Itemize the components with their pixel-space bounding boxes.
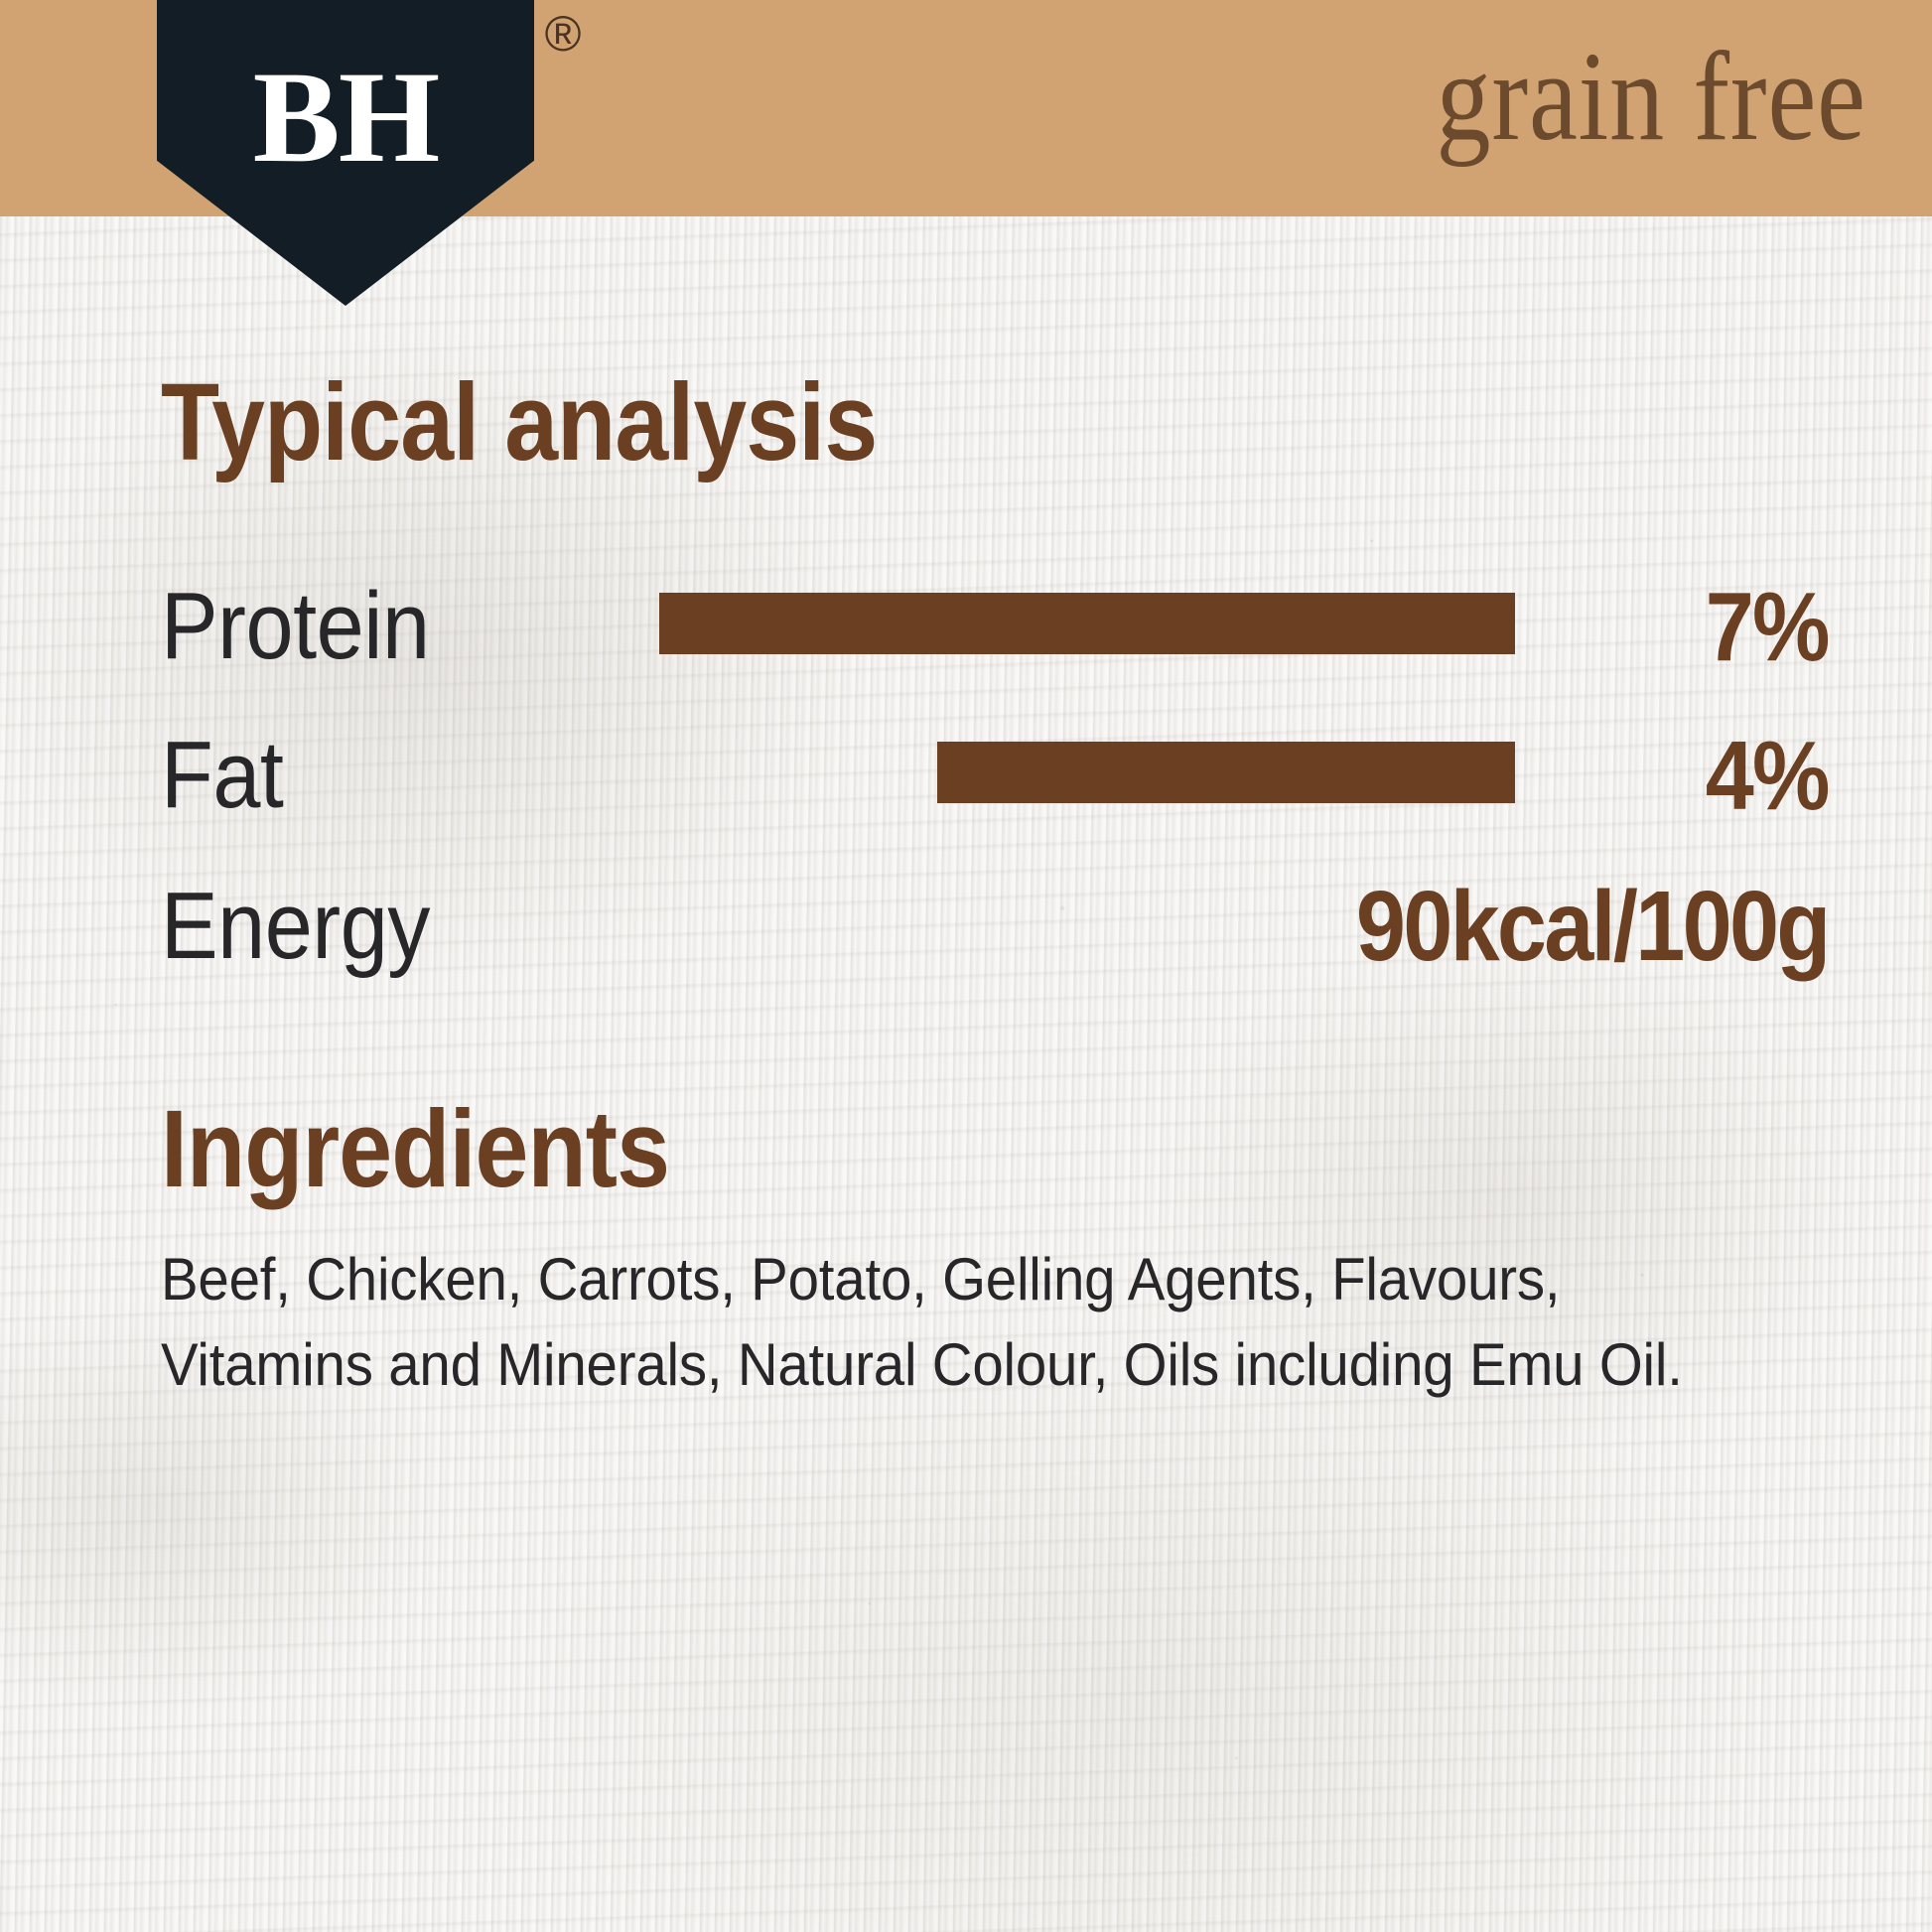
nutrition-value-energy: 90kcal/100g [1356,872,1829,981]
nutrition-value-fat: 4% [1706,721,1829,830]
nutrition-row-energy: Energy 90kcal/100g [161,872,1829,981]
nutrition-row-protein: Protein 7% [161,572,1829,681]
brand-initials: BH [253,52,439,183]
grain-free-tagline: grain free [1437,22,1866,171]
typical-analysis-heading: Typical analysis [161,367,877,479]
nutrition-label-energy: Energy [161,872,430,981]
ingredients-line-2: Vitamins and Minerals, Natural Colour, O… [161,1322,1728,1408]
nutrition-bar-protein [659,593,1515,654]
nutrition-row-fat: Fat 4% [161,721,1829,830]
nutrition-value-protein: 7% [1706,572,1829,681]
nutrition-label-fat: Fat [161,721,283,830]
product-label-panel: ® BH grain free Typical analysis Protein… [0,0,1932,1932]
ingredients-body: Beef, Chicken, Carrots, Potato, Gelling … [161,1237,1728,1408]
nutrition-label-protein: Protein [161,572,430,681]
ingredients-line-1: Beef, Chicken, Carrots, Potato, Gelling … [161,1237,1728,1322]
ingredients-heading: Ingredients [161,1094,669,1205]
nutrition-bar-fat [937,742,1515,803]
registered-trademark-icon: ® [537,8,589,60]
